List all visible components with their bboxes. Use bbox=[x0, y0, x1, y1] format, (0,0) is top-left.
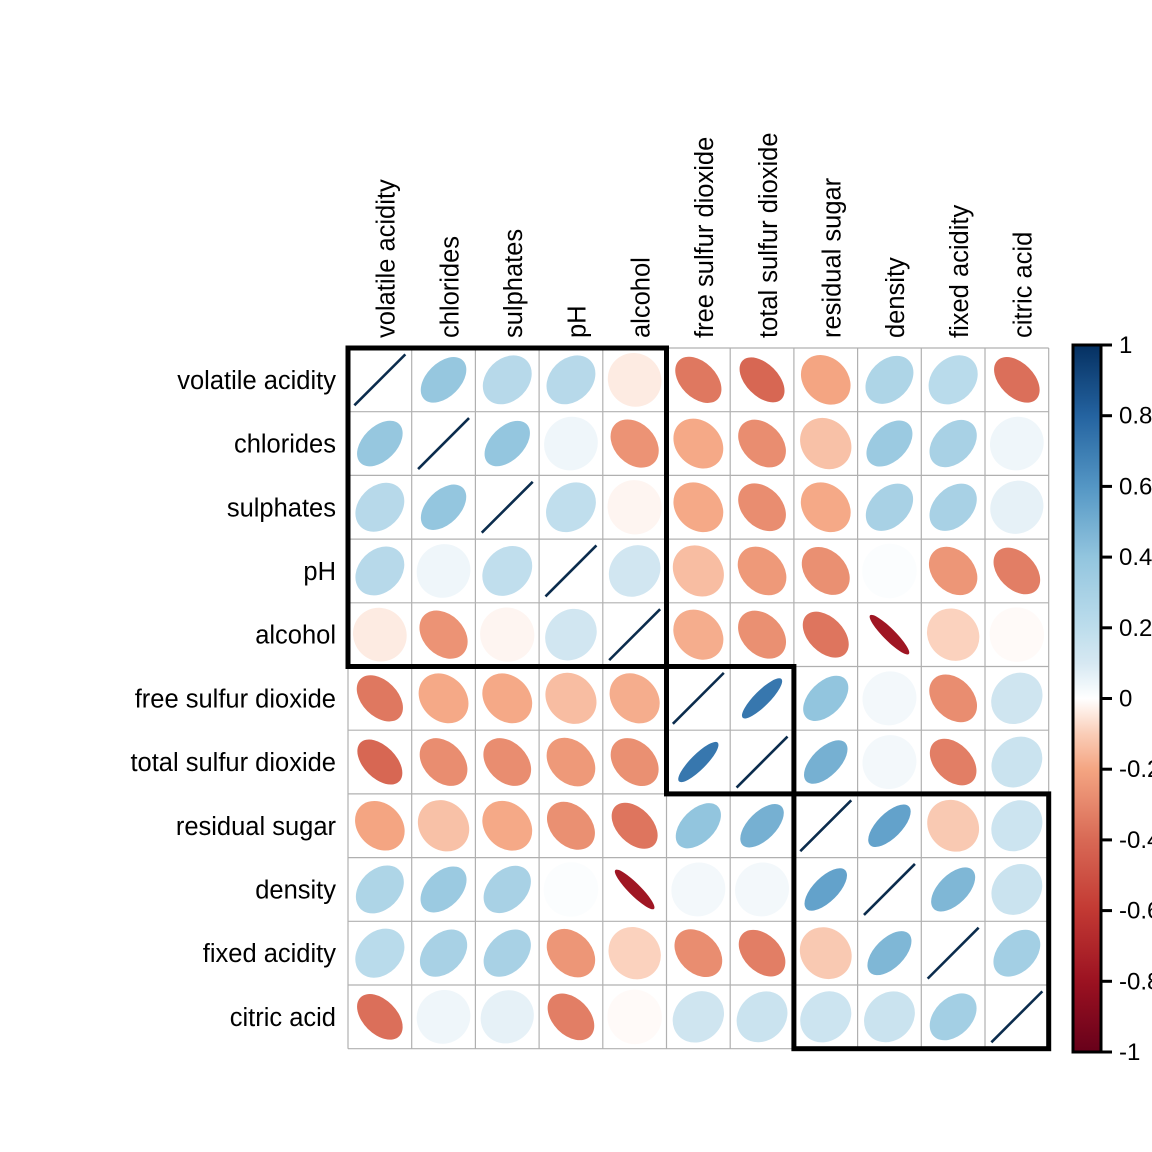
colorbar-tick-label: 1 bbox=[1119, 332, 1132, 359]
column-label: residual sugar bbox=[818, 177, 846, 338]
correlation-matrix-svg: volatile aciditychloridessulphatespHalco… bbox=[0, 0, 1152, 1152]
row-label: density bbox=[255, 876, 336, 904]
column-label: fixed acidity bbox=[946, 205, 974, 338]
column-label: total sulfur dioxide bbox=[755, 132, 783, 338]
row-label: citric acid bbox=[230, 1004, 336, 1032]
colorbar-tick-label: -0.2 bbox=[1119, 756, 1152, 783]
colorbar-tick-label: 0.4 bbox=[1119, 544, 1152, 571]
row-label: free sulfur dioxide bbox=[135, 685, 336, 713]
colorbar-tick-label: -0.8 bbox=[1119, 968, 1152, 995]
row-label: sulphates bbox=[227, 494, 336, 522]
colorbar-tick-label: -0.4 bbox=[1119, 827, 1152, 854]
corrplot-figure: volatile aciditychloridessulphatespHalco… bbox=[0, 0, 1152, 1152]
colorbar-tick-label: 0.8 bbox=[1119, 403, 1152, 430]
column-label: sulphates bbox=[500, 229, 528, 338]
row-label: residual sugar bbox=[176, 813, 337, 841]
row-label: alcohol bbox=[255, 622, 336, 650]
colorbar-tick-label: 0.6 bbox=[1119, 473, 1152, 500]
row-label: volatile acidity bbox=[177, 367, 336, 395]
colorbar-tick-label: 0 bbox=[1119, 686, 1132, 713]
column-label: alcohol bbox=[627, 257, 655, 338]
colorbar-gradient bbox=[1073, 345, 1101, 1052]
row-label: total sulfur dioxide bbox=[130, 749, 336, 777]
figure-background bbox=[0, 0, 1152, 1152]
row-label: fixed acidity bbox=[203, 940, 336, 968]
row-label: chlorides bbox=[234, 431, 336, 459]
column-label: pH bbox=[564, 305, 592, 338]
colorbar-tick-label: -0.6 bbox=[1119, 898, 1152, 925]
column-label: free sulfur dioxide bbox=[691, 137, 719, 338]
column-label: density bbox=[882, 257, 910, 338]
column-label: chlorides bbox=[436, 236, 464, 338]
colorbar-tick-label: -1 bbox=[1119, 1039, 1140, 1066]
row-label: pH bbox=[303, 558, 336, 586]
column-label: citric acid bbox=[1010, 232, 1038, 338]
column-label: volatile acidity bbox=[373, 179, 401, 338]
colorbar-tick-label: 0.2 bbox=[1119, 615, 1152, 642]
